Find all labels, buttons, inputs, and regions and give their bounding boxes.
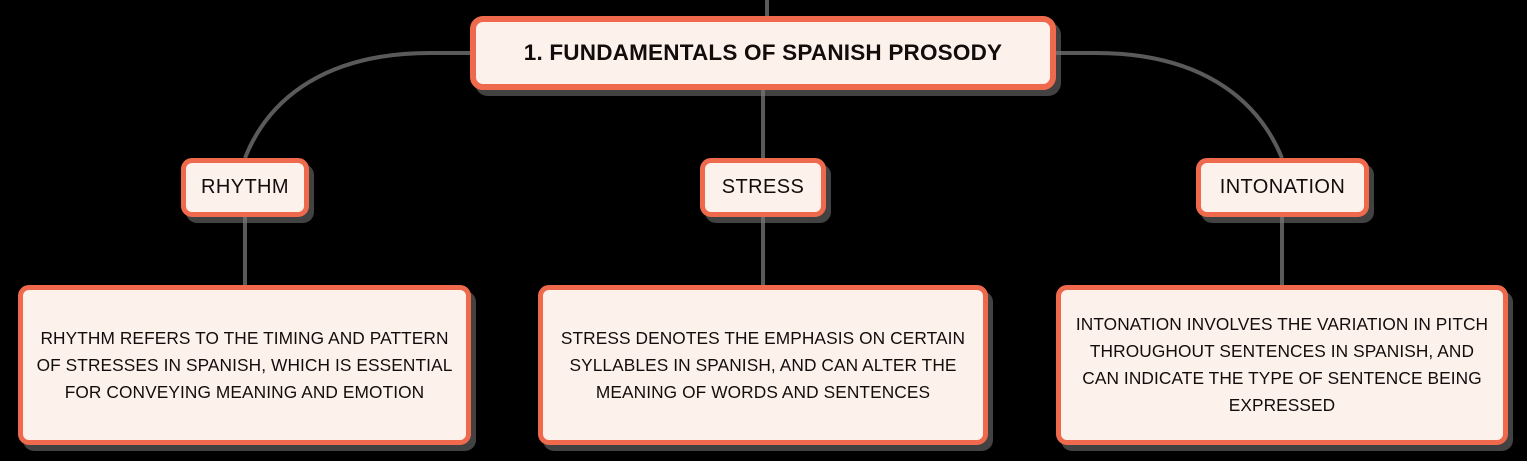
description-node-intonation[interactable]: INTONATION INVOLVES THE VARIATION IN PIT… xyxy=(1056,285,1508,445)
mindmap-canvas: 1. FUNDAMENTALS OF SPANISH PROSODY RHYTH… xyxy=(0,0,1527,461)
description-node-rhythm-text: RHYTHM REFERS TO THE TIMING AND PATTERN … xyxy=(23,325,466,406)
branch-node-intonation[interactable]: INTONATION xyxy=(1196,158,1369,217)
description-node-stress-text: STRESS DENOTES THE EMPHASIS ON CERTAIN S… xyxy=(543,325,983,406)
branch-node-stress[interactable]: STRESS xyxy=(700,158,826,217)
branch-node-rhythm[interactable]: RHYTHM xyxy=(181,158,309,217)
branch-node-intonation-label: INTONATION xyxy=(1220,176,1345,199)
branch-node-rhythm-label: RHYTHM xyxy=(201,176,289,199)
branch-node-stress-label: STRESS xyxy=(722,176,804,199)
root-node[interactable]: 1. FUNDAMENTALS OF SPANISH PROSODY xyxy=(470,16,1056,90)
description-node-stress[interactable]: STRESS DENOTES THE EMPHASIS ON CERTAIN S… xyxy=(538,285,988,445)
description-node-rhythm[interactable]: RHYTHM REFERS TO THE TIMING AND PATTERN … xyxy=(18,285,471,445)
description-node-intonation-text: INTONATION INVOLVES THE VARIATION IN PIT… xyxy=(1061,311,1503,419)
connector-root-to-intonation xyxy=(1056,53,1282,158)
connector-root-to-rhythm xyxy=(245,53,470,158)
root-node-label: 1. FUNDAMENTALS OF SPANISH PROSODY xyxy=(510,40,1017,66)
